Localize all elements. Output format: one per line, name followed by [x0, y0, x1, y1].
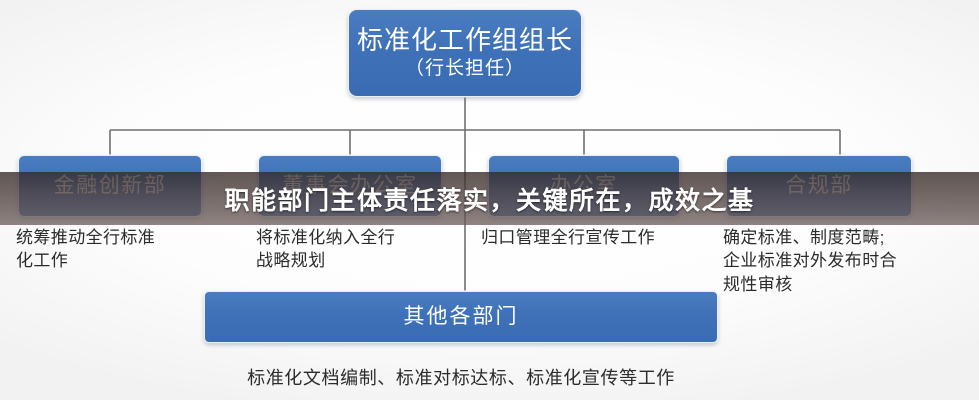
node-chairman-title: 标准化工作组组长: [357, 25, 573, 56]
node-other-departments[interactable]: 其他各部门: [204, 291, 718, 343]
caption-general-office: 归口管理全行宣传工作: [481, 226, 721, 249]
overlay-banner: 职能部门主体责任落实，关键所在，成效之基: [0, 172, 979, 225]
node-chairman[interactable]: 标准化工作组组长 （行长担任）: [348, 9, 582, 97]
node-chairman-subtitle: （行长担任）: [405, 58, 525, 81]
caption-board-office: 将标准化纳入全行 战略规划: [256, 226, 476, 273]
caption-other-departments: 标准化文档编制、标准对标达标、标准化宣传等工作: [204, 364, 718, 390]
caption-compliance: 确定标准、制度范畴; 企业标准对外发布时合 规性审核: [723, 226, 973, 296]
slide-canvas: 标准化工作组组长 （行长担任） 金融创新部 董事会办公室 办公室 合规部 统筹推…: [0, 0, 979, 400]
overlay-banner-title: 职能部门主体责任落实，关键所在，成效之基: [224, 181, 754, 217]
node-other-departments-label: 其他各部门: [404, 304, 519, 329]
caption-financial-innovation: 统筹推动全行标准 化工作: [16, 226, 236, 273]
